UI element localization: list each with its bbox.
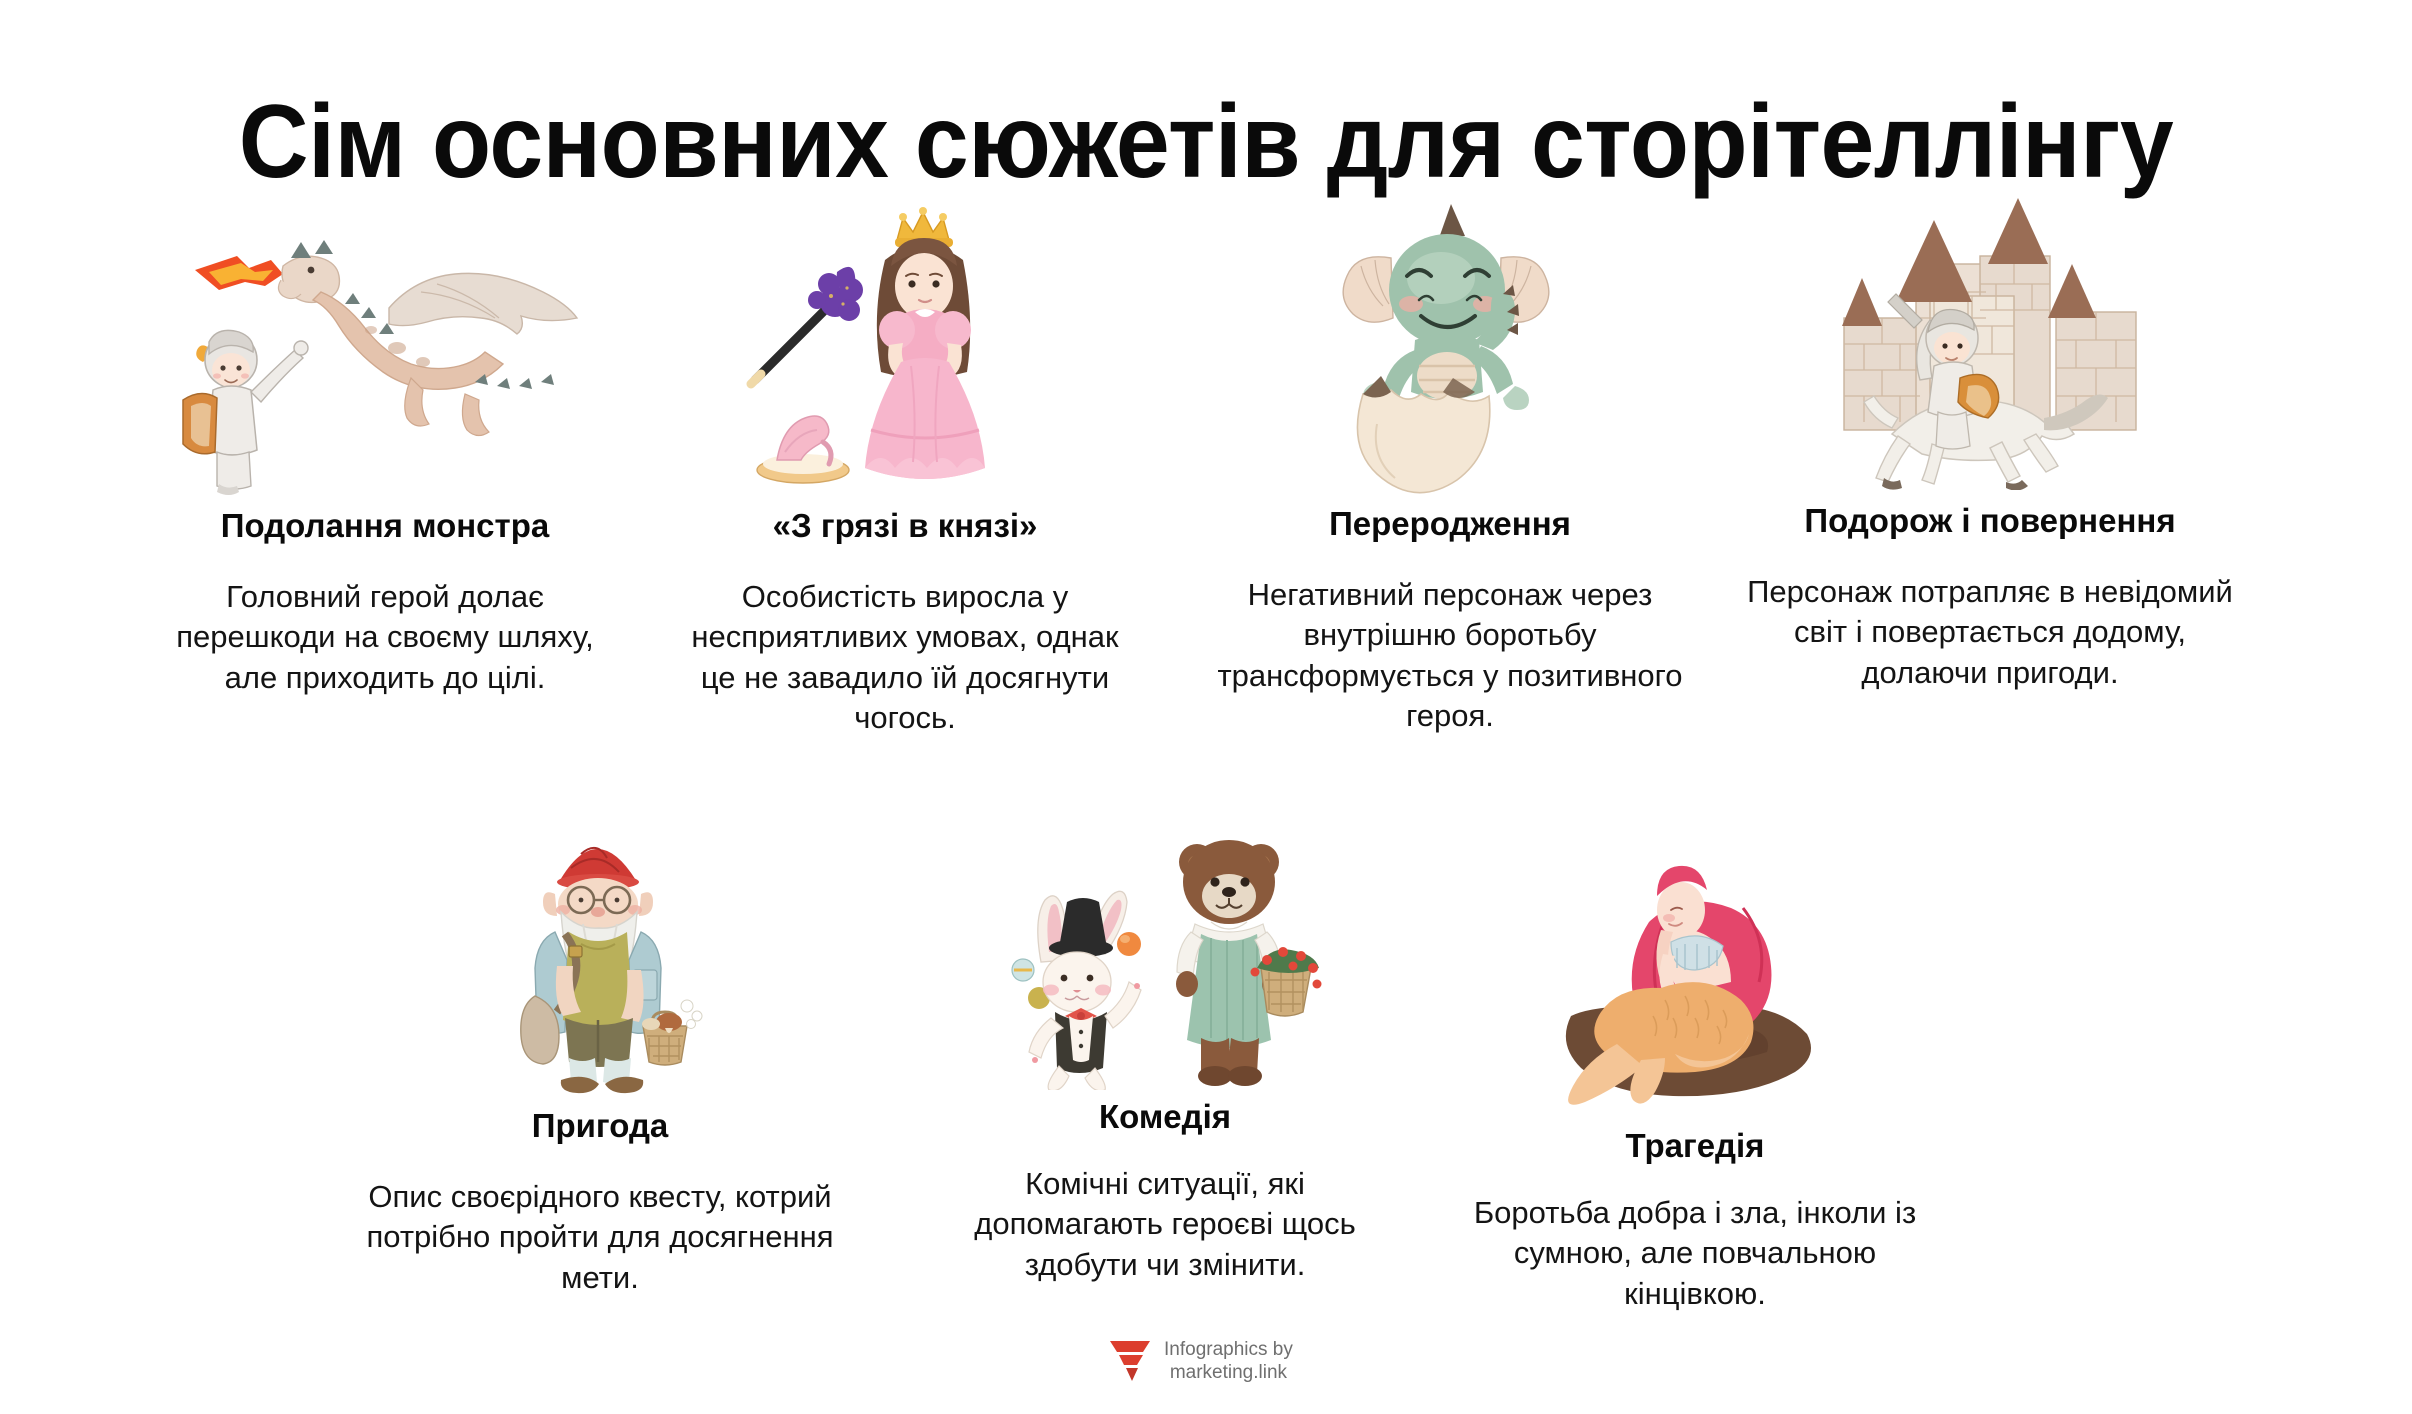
card-body-text: Головний герой долає перешкоди на своєму… xyxy=(150,577,620,698)
card-body-text: Персонаж потрапляє в невідомий світ і по… xyxy=(1730,572,2250,693)
gnome-with-basket-illustration xyxy=(355,820,845,1095)
footer-logo-text: Infographics by marketing.link xyxy=(1164,1338,1293,1384)
footer-logo-line-2: marketing.link xyxy=(1164,1361,1293,1384)
card-heading: Переродження xyxy=(1200,505,1700,543)
card-heading: Комедія xyxy=(930,1098,1400,1136)
card-body-text: Опис своєрідного квесту, котрий потрібно… xyxy=(355,1177,845,1298)
princess xyxy=(865,207,985,479)
card-body-text: Боротьба добра і зла, інколи із сумною, … xyxy=(1455,1193,1935,1314)
princess-wand-slipper-illustration xyxy=(680,190,1130,495)
story-card-rags-to-riches: «З грязі в князі» Особистість виросла у … xyxy=(680,190,1130,738)
card-body-text: Особистість виросла у несприятливих умов… xyxy=(680,577,1130,738)
dragon-flame xyxy=(195,256,283,290)
infographic-page: { "title": "Сім основних сюжетів для сто… xyxy=(0,0,2412,1414)
dragon xyxy=(278,240,577,436)
footer-logo-line-1: Infographics by xyxy=(1164,1338,1293,1361)
card-body-text: Негативний персонаж через внутрішню боро… xyxy=(1200,575,1700,736)
story-card-rebirth: Переродження Негативний персонаж через в… xyxy=(1200,200,1700,736)
bear-with-basket xyxy=(1176,840,1322,1086)
mermaid-on-rock-illustration xyxy=(1455,830,1935,1105)
story-card-comedy: Комедія Комічні ситуації, які допомагают… xyxy=(930,820,1400,1285)
castle-with-knight-on-horse-illustration xyxy=(1730,190,2250,490)
marketing-link-funnel-logo-icon xyxy=(1108,1338,1152,1384)
page-title: Сім основних сюжетів для сторітеллінгу xyxy=(84,88,2327,197)
rabbit-magician-and-bear-illustration xyxy=(930,820,1400,1090)
card-heading: Пригода xyxy=(355,1107,845,1145)
card-heading: Подолання монстра xyxy=(150,507,620,545)
story-card-overcoming-the-monster: Подолання монстра Головний герой долає п… xyxy=(150,230,620,698)
story-card-voyage-and-return: Подорож і повернення Персонаж потрапляє … xyxy=(1730,190,2250,693)
footer-logo[interactable]: Infographics by marketing.link xyxy=(1108,1338,1293,1384)
hatching-baby-dragon-illustration xyxy=(1200,200,1700,495)
card-heading: «З грязі в князі» xyxy=(680,507,1130,545)
rabbit-magician xyxy=(1029,891,1141,1090)
card-heading: Трагедія xyxy=(1455,1127,1935,1165)
story-card-quest: Пригода Опис своєрідного квесту, котрий … xyxy=(355,820,845,1298)
magic-wand xyxy=(751,267,863,384)
card-heading: Подорож і повернення xyxy=(1730,502,2250,540)
glass-slipper xyxy=(757,416,849,483)
knight-and-dragon-illustration xyxy=(150,230,620,495)
knight xyxy=(183,330,308,495)
card-body-text: Комічні ситуації, які допомагають героєв… xyxy=(930,1164,1400,1285)
story-card-tragedy: Трагедія Боротьба добра і зла, інколи із… xyxy=(1455,830,1935,1314)
